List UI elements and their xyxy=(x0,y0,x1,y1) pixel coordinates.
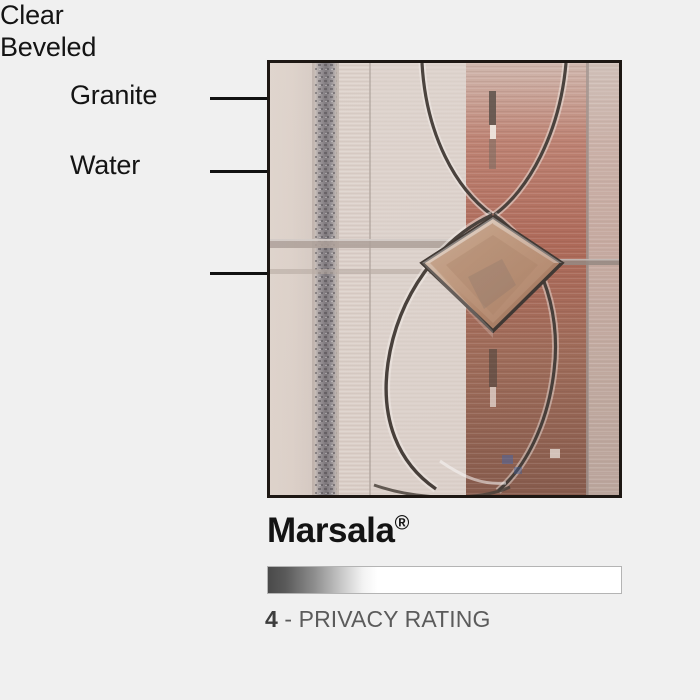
privacy-rating-value: 4 xyxy=(265,606,278,632)
privacy-rating-caption: 4 - PRIVACY RATING xyxy=(265,606,490,633)
privacy-rating-label: - PRIVACY RATING xyxy=(278,606,491,632)
glass-panel-image xyxy=(267,60,622,498)
product-name-text: Marsala xyxy=(267,511,395,550)
glass-pattern-illustration xyxy=(270,63,619,495)
callout-label-granite: Granite xyxy=(70,80,157,112)
callout-label-water: Water xyxy=(70,150,140,182)
registered-trademark-symbol: ® xyxy=(395,512,409,534)
glass-product-card: Granite Water Clear Beveled xyxy=(0,0,700,700)
callout-label-clear-beveled: Clear Beveled xyxy=(0,0,96,63)
privacy-rating-bar xyxy=(267,566,622,594)
product-name: Marsala® xyxy=(267,511,409,551)
